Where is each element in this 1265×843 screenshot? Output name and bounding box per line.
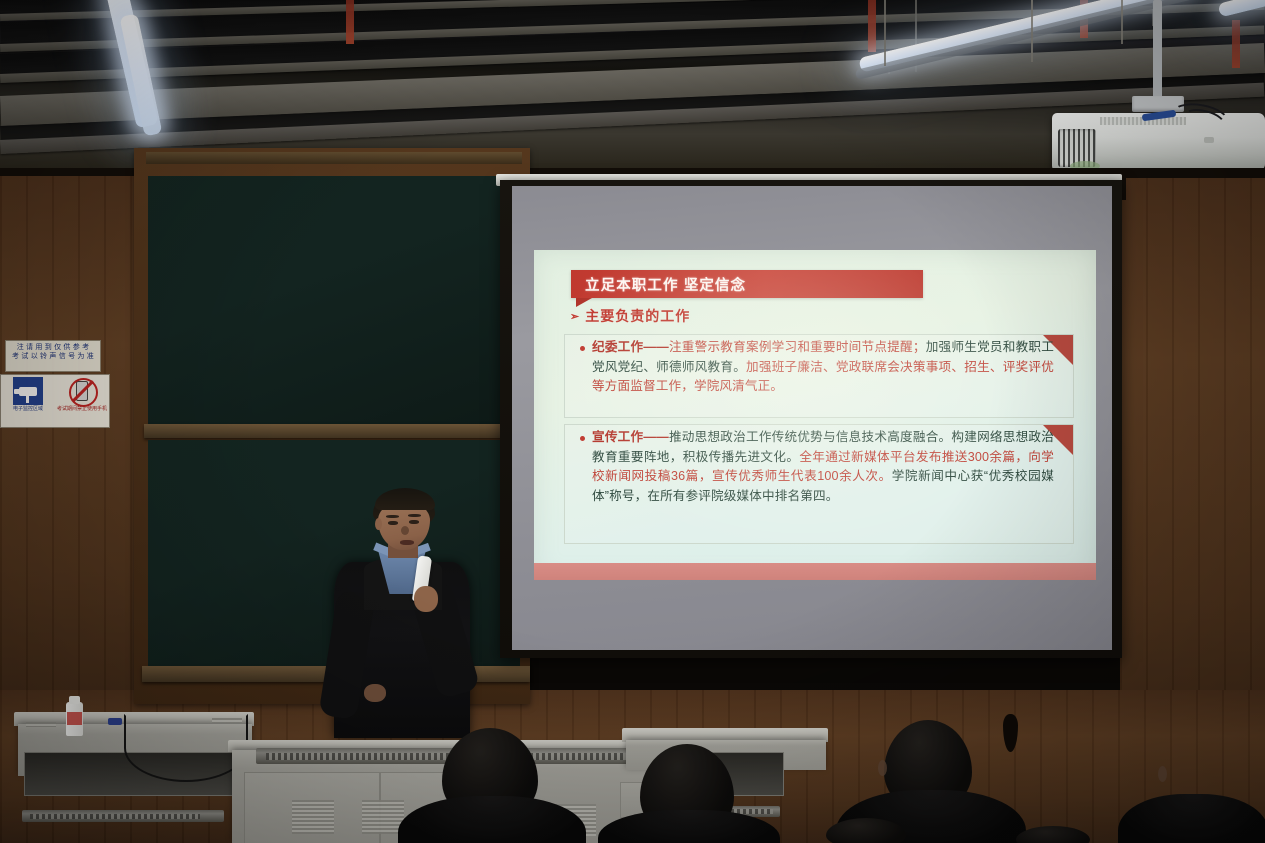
- surveillance-sign-caption: 电子监控区域: [13, 406, 43, 412]
- bullet-2-dash: ——: [643, 430, 669, 444]
- presenter-nose: [401, 526, 409, 535]
- ceiling-projector: [1052, 113, 1265, 171]
- blackboard-upper-panel: [148, 176, 520, 426]
- side-table-vent: [26, 722, 56, 727]
- presenter-eye: [409, 520, 419, 524]
- no-phone-icon: [67, 377, 97, 405]
- no-phone-sign: 考试期间禁止使用手机: [55, 375, 109, 427]
- bullet-1-body-1: 注重警示教育案例学习和重要时间节点提醒；: [669, 340, 926, 354]
- presenter-eyebrow: [408, 514, 421, 517]
- bullet-1-label: 纪委工作: [592, 340, 643, 354]
- presenter-hand: [364, 684, 386, 702]
- side-table-keyboard-tray: [22, 810, 224, 822]
- slide-title-banner: 立足本职工作 坚定信念: [571, 270, 923, 298]
- presenter-hair: [375, 488, 435, 510]
- beam-red-stripe: [868, 0, 876, 52]
- presenter-eye: [388, 521, 398, 525]
- surveillance-sign: 电子监控区域: [1, 375, 55, 427]
- wood-wall-right: [1120, 178, 1265, 778]
- exam-notice-line-1: 注 请 用 到 仅 供 参 考: [7, 343, 99, 352]
- cctv-camera-icon: [13, 377, 43, 405]
- beam-red-stripe: [346, 0, 354, 44]
- bullet-1-dash: ——: [643, 340, 669, 354]
- slide-bottom-band: [534, 563, 1096, 580]
- blue-device: [108, 718, 122, 725]
- presenter: [320, 488, 500, 738]
- lecture-hall-scene: 注 请 用 到 仅 供 参 考 考 试 以 铃 声 信 号 为 准 电子监控区域…: [0, 0, 1265, 843]
- wall-sign-pair: 电子监控区域 考试期间禁止使用手机: [0, 374, 110, 428]
- slide-section-heading-text: 主要负责的工作: [585, 306, 690, 326]
- arrow-bullet-icon: ➢: [570, 310, 580, 323]
- audience-ear: [1158, 766, 1167, 782]
- lectern-vent: [292, 800, 334, 834]
- presenter-ear: [375, 518, 382, 530]
- projector-mount-pipe: [1153, 0, 1162, 98]
- bullet-2-label: 宣传工作: [592, 430, 643, 444]
- bullet-dot: [580, 346, 585, 351]
- slide-title: 立足本职工作 坚定信念: [585, 274, 746, 295]
- ppt-slide: 立足本职工作 坚定信念 ➢ 主要负责的工作 纪委工作——注重警示教育案例学习和重…: [534, 250, 1096, 580]
- exam-notice-line-2: 考 试 以 铃 声 信 号 为 准: [7, 352, 99, 361]
- projection-screen: 立足本职工作 坚定信念 ➢ 主要负责的工作 纪委工作——注重警示教育案例学习和重…: [512, 186, 1112, 650]
- water-bottle-label: [67, 712, 82, 725]
- slide-bullet-2: 宣传工作——推动思想政治工作传统优势与信息技术高度融合。构建网络思想政治教育重要…: [592, 428, 1054, 506]
- slide-section-heading: ➢ 主要负责的工作: [570, 306, 690, 326]
- exam-notice-sign: 注 请 用 到 仅 供 参 考 考 试 以 铃 声 信 号 为 准: [5, 340, 101, 372]
- slide-bullet-1: 纪委工作——注重警示教育案例学习和重要时间节点提醒；加强师生党员和教职工党风党纪…: [592, 338, 1054, 397]
- wood-wall-left: [0, 176, 140, 736]
- presenter-eyebrow: [386, 515, 399, 518]
- beam-red-stripe: [1232, 20, 1240, 68]
- blackboard-chalk-ledge: [144, 424, 526, 438]
- bullet-dot: [580, 436, 585, 441]
- blackboard-top-rail: [146, 152, 522, 164]
- presenter-mouth: [400, 540, 414, 545]
- water-bottle-cap: [69, 696, 80, 704]
- presenter-hand-holding-mic: [414, 586, 438, 612]
- audience-ear: [878, 760, 887, 776]
